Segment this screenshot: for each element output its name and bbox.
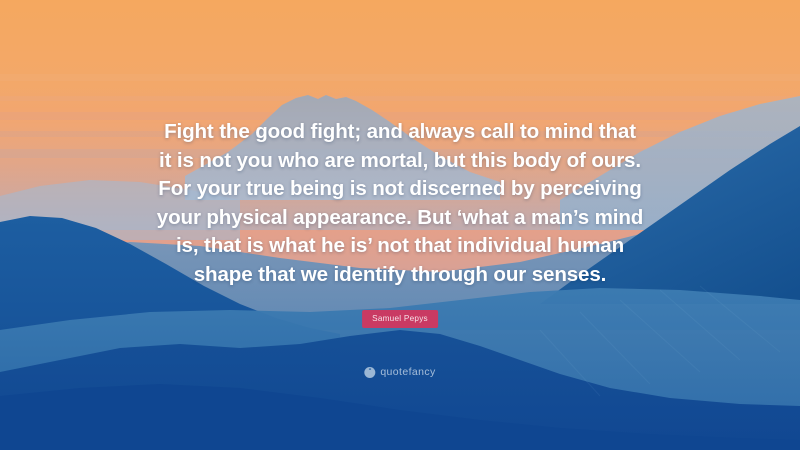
quote-line: shape that we identify through our sense… <box>0 261 800 290</box>
quote-line: it is not you who are mortal, but this b… <box>0 147 800 176</box>
quote-line: your physical appearance. But ‘what a ma… <box>0 204 800 233</box>
quote-mark-glyph: “ <box>369 369 372 375</box>
author-attribution-badge[interactable]: Samuel Pepys <box>362 310 438 328</box>
quote-line: Fight the good fight; and always call to… <box>0 118 800 147</box>
brand-name: quotefancy <box>380 366 435 378</box>
quote-line: For your true being is not discerned by … <box>0 175 800 204</box>
quote-image-canvas: Fight the good fight; and always call to… <box>0 0 800 450</box>
quote-mark-icon: “ <box>364 367 375 378</box>
quote-line: is, that is what he is’ not that individ… <box>0 232 800 261</box>
quotefancy-watermark[interactable]: “ quotefancy <box>364 366 435 378</box>
quote-text-block: Fight the good fight; and always call to… <box>0 118 800 290</box>
